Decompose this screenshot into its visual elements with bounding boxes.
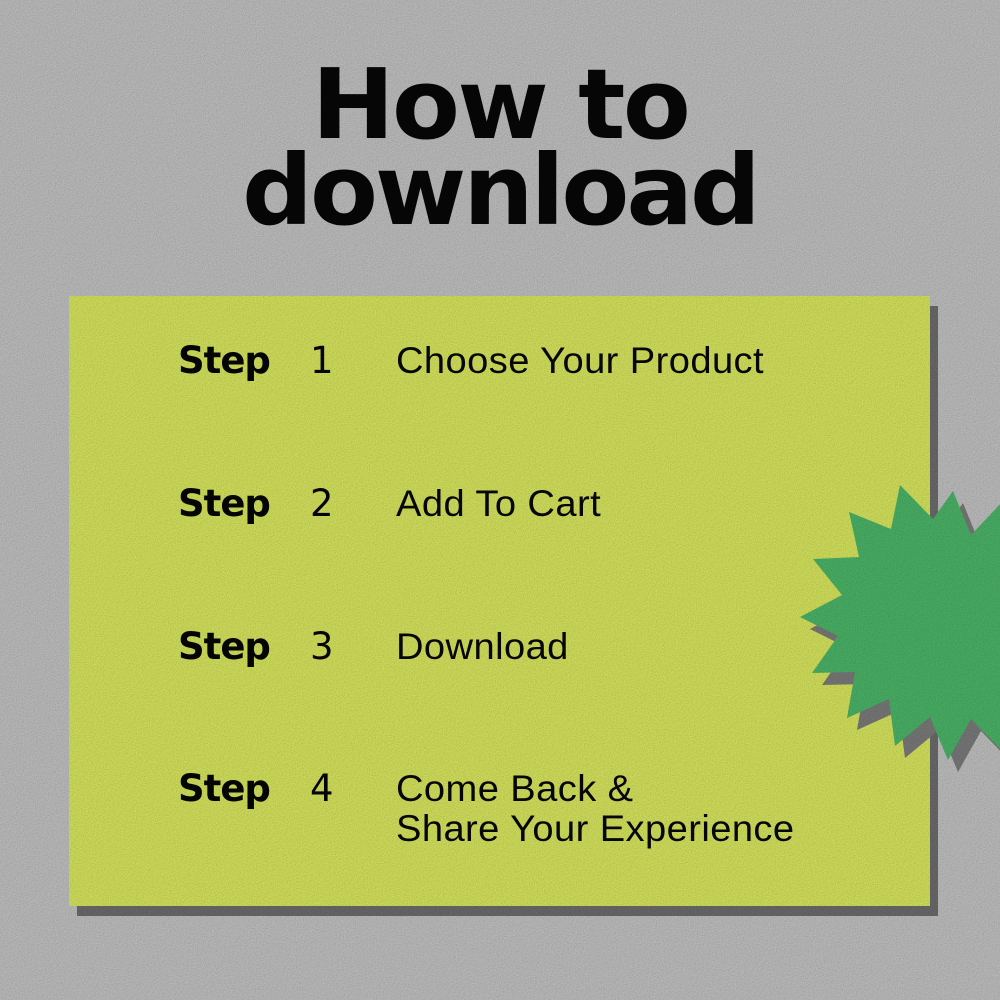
- list-item: Step 1 Choose Your Product: [69, 340, 930, 382]
- page-title: How to download: [0, 62, 1000, 234]
- step-description: Choose Your Product: [396, 340, 946, 381]
- step-label: Step: [178, 768, 310, 810]
- step-number: 3: [310, 626, 396, 668]
- list-item: Step 3 Download: [69, 626, 930, 668]
- starburst-badge: [806, 474, 1000, 732]
- list-item: Step 4 Come Back & Share Your Experience: [69, 768, 930, 849]
- steps-list: Step 1 Choose Your Product Step 2 Add To…: [69, 296, 930, 906]
- step-label: Step: [178, 340, 310, 382]
- step-label: Step: [178, 626, 310, 668]
- step-number: 1: [310, 340, 396, 382]
- step-number: 4: [310, 768, 396, 810]
- step-description: Come Back & Share Your Experience: [396, 769, 946, 849]
- list-item: Step 2 Add To Cart: [69, 483, 930, 525]
- poster-canvas: How to download Step 1 Choose Your Produ…: [0, 0, 1000, 1000]
- title-line-2: download: [0, 148, 1000, 234]
- step-label: Step: [178, 483, 310, 525]
- step-number: 2: [310, 483, 396, 525]
